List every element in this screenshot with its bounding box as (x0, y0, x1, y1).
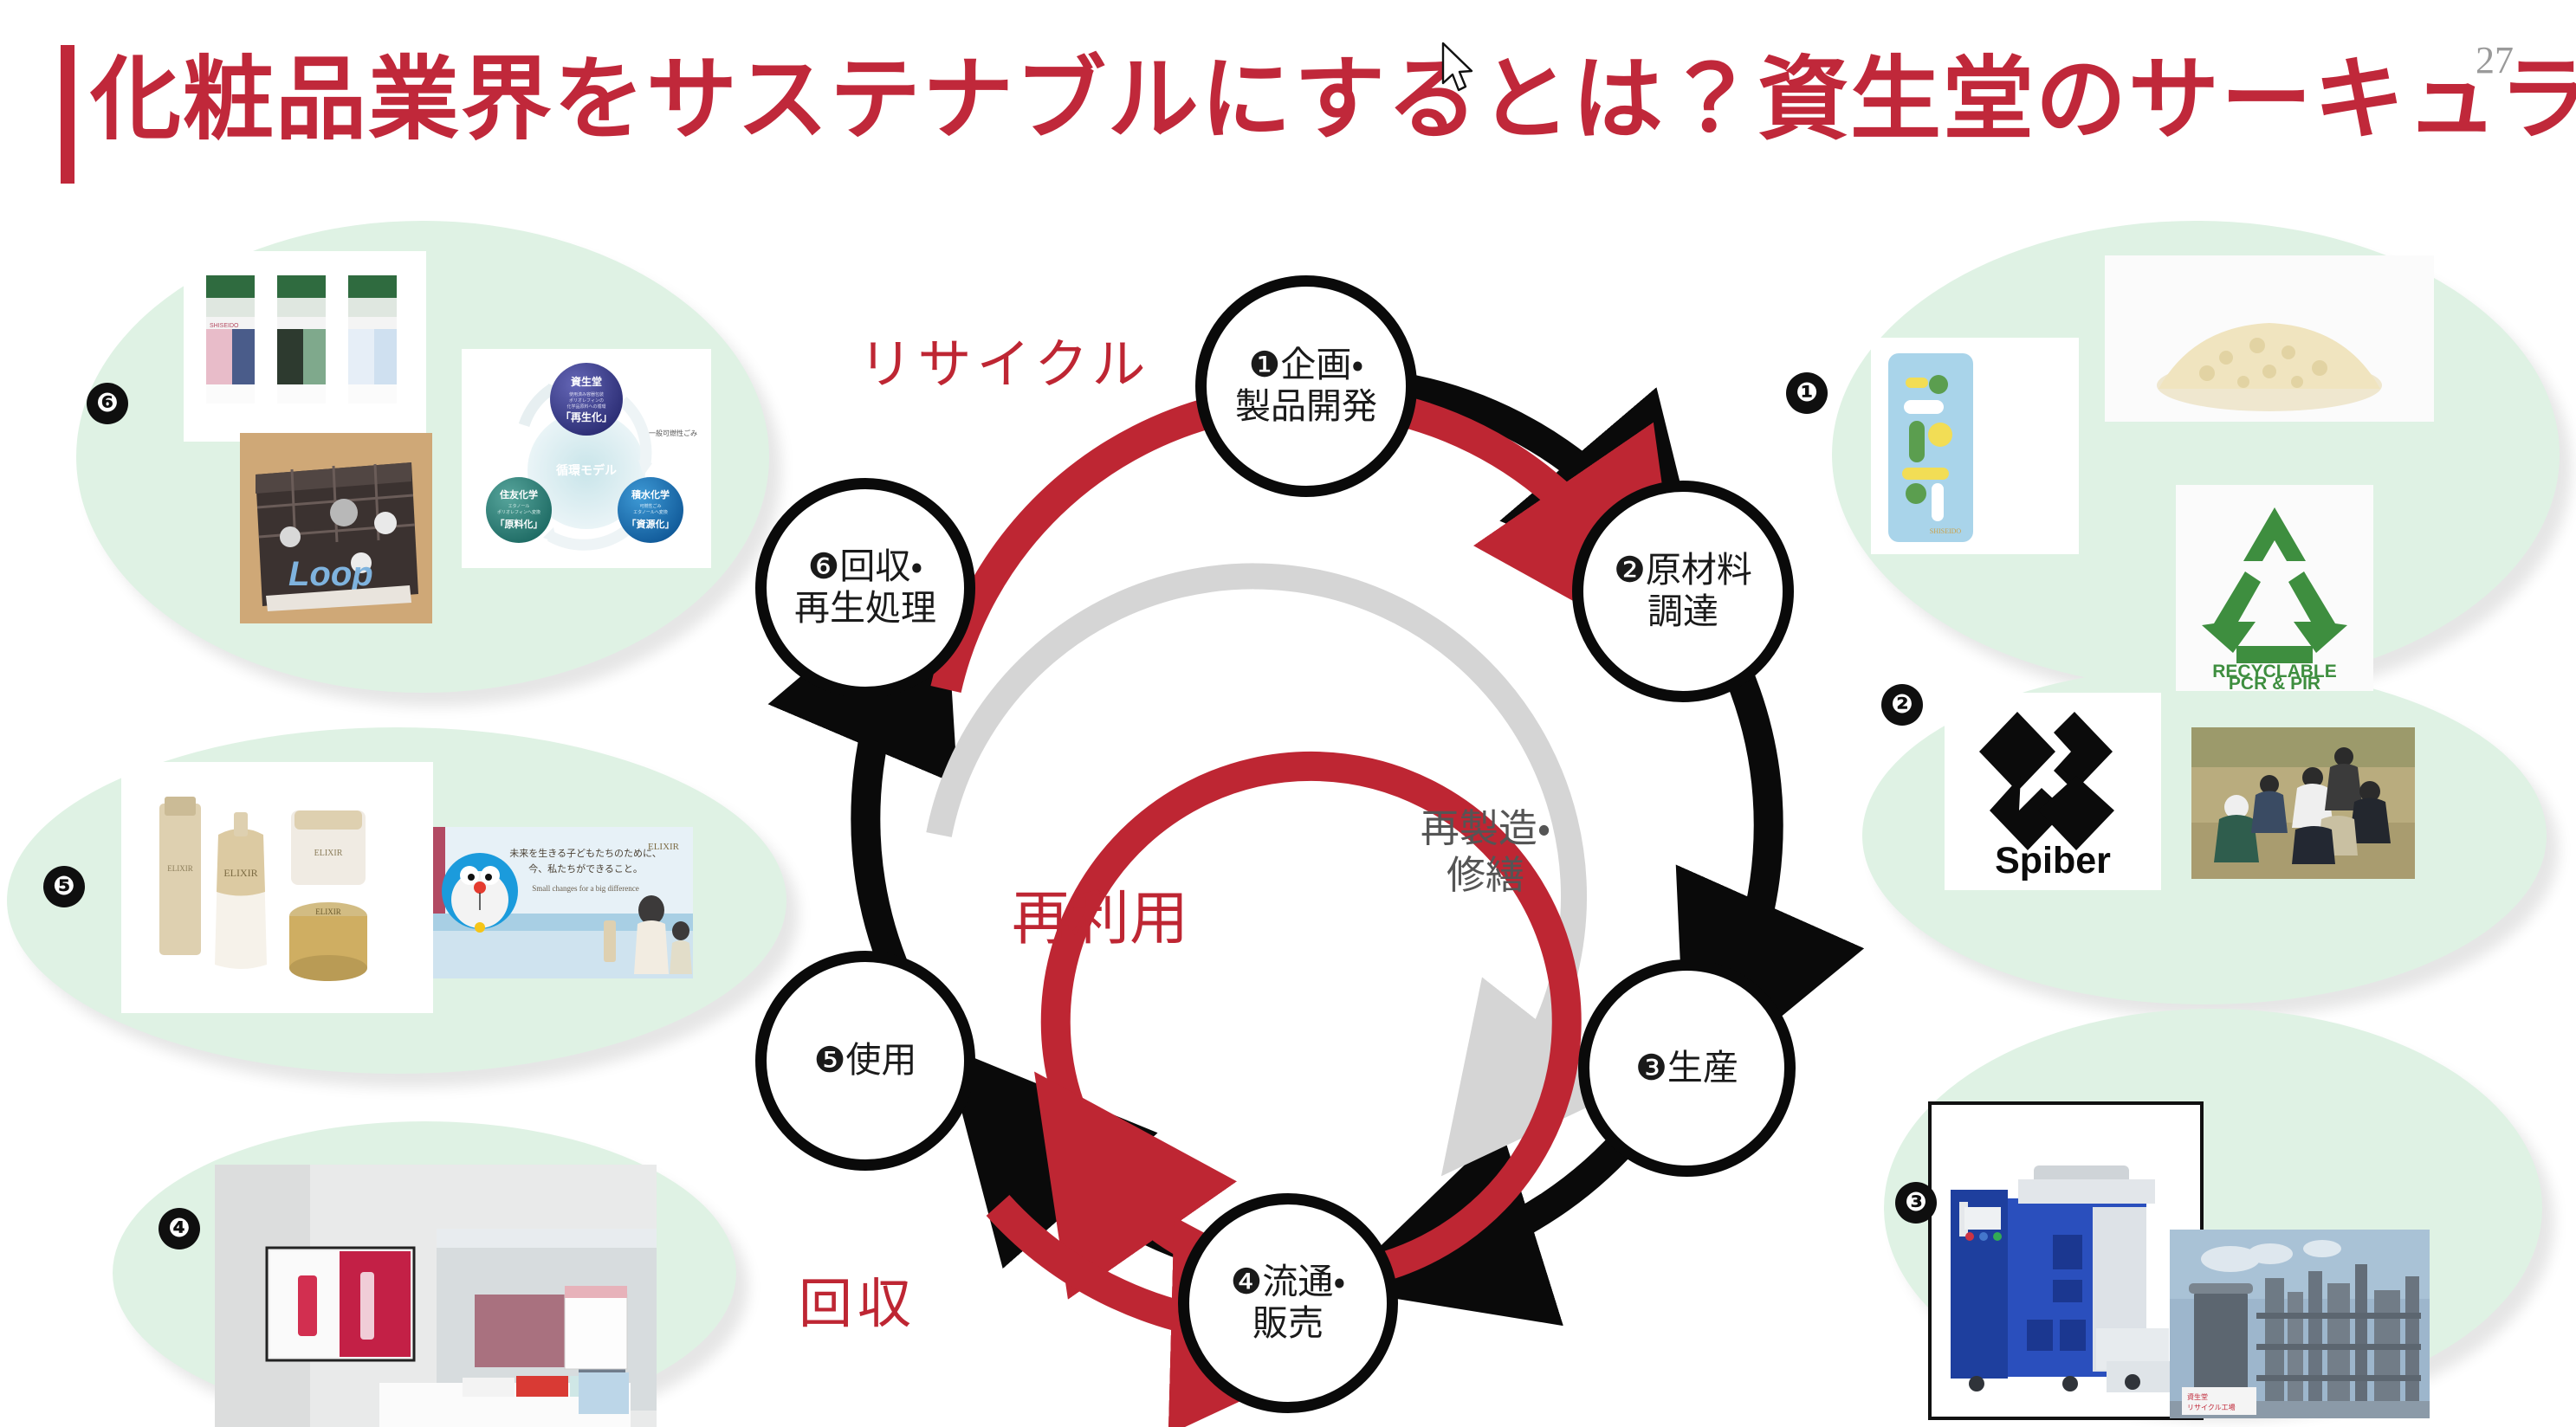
cycle-node-2[interactable]: ❷原材料 調達 (1572, 481, 1794, 702)
presentation-slide: 化粧品業界をサステナブルにするとは？資生堂のサーキュラーモデル 27 ❻ SHI… (0, 0, 2576, 1427)
cycle-node-5-label: ❺使用 (814, 1040, 917, 1082)
callout-badge-2: ❷ (1881, 684, 1923, 726)
svg-text:資生堂: 資生堂 (2187, 1392, 2208, 1401)
chemical-plant-photo: 資生堂 リサイクル工場 (2170, 1230, 2430, 1418)
cycle-node-4-label: ❹流通・ 販売 (1231, 1262, 1346, 1344)
cycle-node-6[interactable]: ❻回収・ 再生処理 (755, 478, 975, 698)
cycle-node-3[interactable]: ❸生産 (1578, 959, 1796, 1177)
cycle-node-1-label: ❶企画・ 製品開発 (1235, 345, 1377, 427)
loop-reusable-crate-photo: Loop (240, 433, 432, 623)
svg-text:化学品原料への循環: 化学品原料への循環 (566, 404, 605, 410)
compactor-machine-photo (1928, 1101, 2204, 1420)
elixir-doraemon-ad-photo: 未来を生きる子どもたちのために、 今、私たちができること。 Small chan… (433, 827, 693, 978)
callout-badge-5: ❺ (43, 866, 85, 907)
svg-text:SHISEIDO: SHISEIDO (210, 323, 239, 329)
callout-badge-6: ❻ (87, 383, 128, 424)
callout-badge-4: ❹ (159, 1208, 200, 1249)
svg-text:「原料化」: 「原料化」 (495, 518, 543, 530)
svg-text:SHISEIDO: SHISEIDO (1930, 527, 1962, 535)
cycle-node-3-label: ❸生産 (1635, 1048, 1738, 1089)
spiber-logo: Spiber (1945, 693, 2161, 890)
svg-text:「再生化」: 「再生化」 (560, 410, 612, 423)
svg-text:ポリオレフィンの: ポリオレフィンの (569, 397, 604, 404)
page-number: 27 (2476, 38, 2514, 82)
elixir-product-lineup-photo: ELIXIR ELIXIR ELIXIR ELIXIR (121, 762, 433, 1013)
spiber-wordmark: Spiber (1995, 840, 2111, 881)
cycle-node-2-label: ❷原材料 調達 (1614, 550, 1752, 632)
cycle-node-1[interactable]: ❶企画・ 製品開発 (1195, 275, 1417, 497)
svg-text:リサイクル工場: リサイクル工場 (2187, 1403, 2236, 1411)
svg-text:ELIXIR: ELIXIR (223, 867, 257, 879)
svg-text:今、私たちができること。: 今、私たちができること。 (528, 862, 643, 875)
mouse-pointer (1440, 42, 1480, 95)
field-research-people-photo (2191, 727, 2415, 879)
svg-text:使用済み容器包装: 使用済み容器包装 (569, 391, 604, 397)
svg-text:循環モデル: 循環モデル (555, 463, 617, 477)
svg-text:ELIXIR: ELIXIR (167, 864, 193, 873)
shiseido-eyeshadow-palette-package: SHISEIDO (1871, 338, 2079, 554)
shiseido-paper-carton-products-photo: SHISEIDO (184, 251, 426, 442)
svg-text:資生堂: 資生堂 (571, 375, 602, 388)
ring-label-collect: 回収 (754, 1260, 961, 1338)
svg-text:ELIXIR: ELIXIR (648, 842, 680, 852)
callout-badge-3: ❸ (1895, 1182, 1937, 1224)
plastic-resin-pellets-photo (2105, 255, 2434, 422)
cycle-node-5[interactable]: ❺使用 (755, 951, 975, 1171)
svg-text:ELIXIR: ELIXIR (315, 907, 341, 916)
svg-text:Loop: Loop (288, 555, 373, 593)
svg-text:Small changes for a big differ: Small changes for a big difference (532, 884, 639, 893)
svg-text:ELIXIR: ELIXIR (314, 849, 343, 858)
svg-text:エタノール: エタノール (508, 503, 530, 509)
retail-store-counter-photo (215, 1165, 657, 1427)
svg-text:「資源化」: 「資源化」 (627, 518, 675, 530)
ring-label-remanufacture: 再製造・ 修繕 (1364, 805, 1607, 899)
page-title: 化粧品業界をサステナブルにするとは？資生堂のサーキュラーモデル (90, 43, 2576, 157)
recyclable-pcr-pir-logo: RECYCLABLE PCR & PIR (2176, 485, 2373, 691)
svg-text:一般可燃性ごみ: 一般可燃性ごみ (649, 429, 697, 437)
svg-text:積水化学: 積水化学 (631, 488, 670, 500)
svg-text:PCR & PIR: PCR & PIR (2229, 674, 2320, 691)
svg-text:住友化学: 住友化学 (499, 488, 538, 500)
svg-text:可燃性ごみ: 可燃性ごみ (639, 503, 661, 509)
ring-label-recycle: リサイクル (832, 320, 1178, 398)
callout-badge-1: ❶ (1786, 372, 1828, 414)
ring-label-reuse: 再利用 (970, 870, 1230, 956)
svg-text:ポリオレフィンへ変換: ポリオレフィンへ変換 (497, 509, 540, 515)
cycle-node-4[interactable]: ❹流通・ 販売 (1178, 1193, 1398, 1413)
svg-text:未来を生きる子どもたちのために、: 未来を生きる子どもたちのために、 (509, 847, 661, 859)
cycle-node-6-label: ❻回収・ 再生処理 (794, 546, 936, 629)
title-accent-bar (61, 45, 74, 184)
svg-text:エタノールへ変換: エタノールへ変換 (633, 509, 668, 515)
circular-model-diagram: 資生堂 使用済み容器包装 ポリオレフィンの 化学品原料への循環 「再生化」 積水… (462, 349, 711, 568)
